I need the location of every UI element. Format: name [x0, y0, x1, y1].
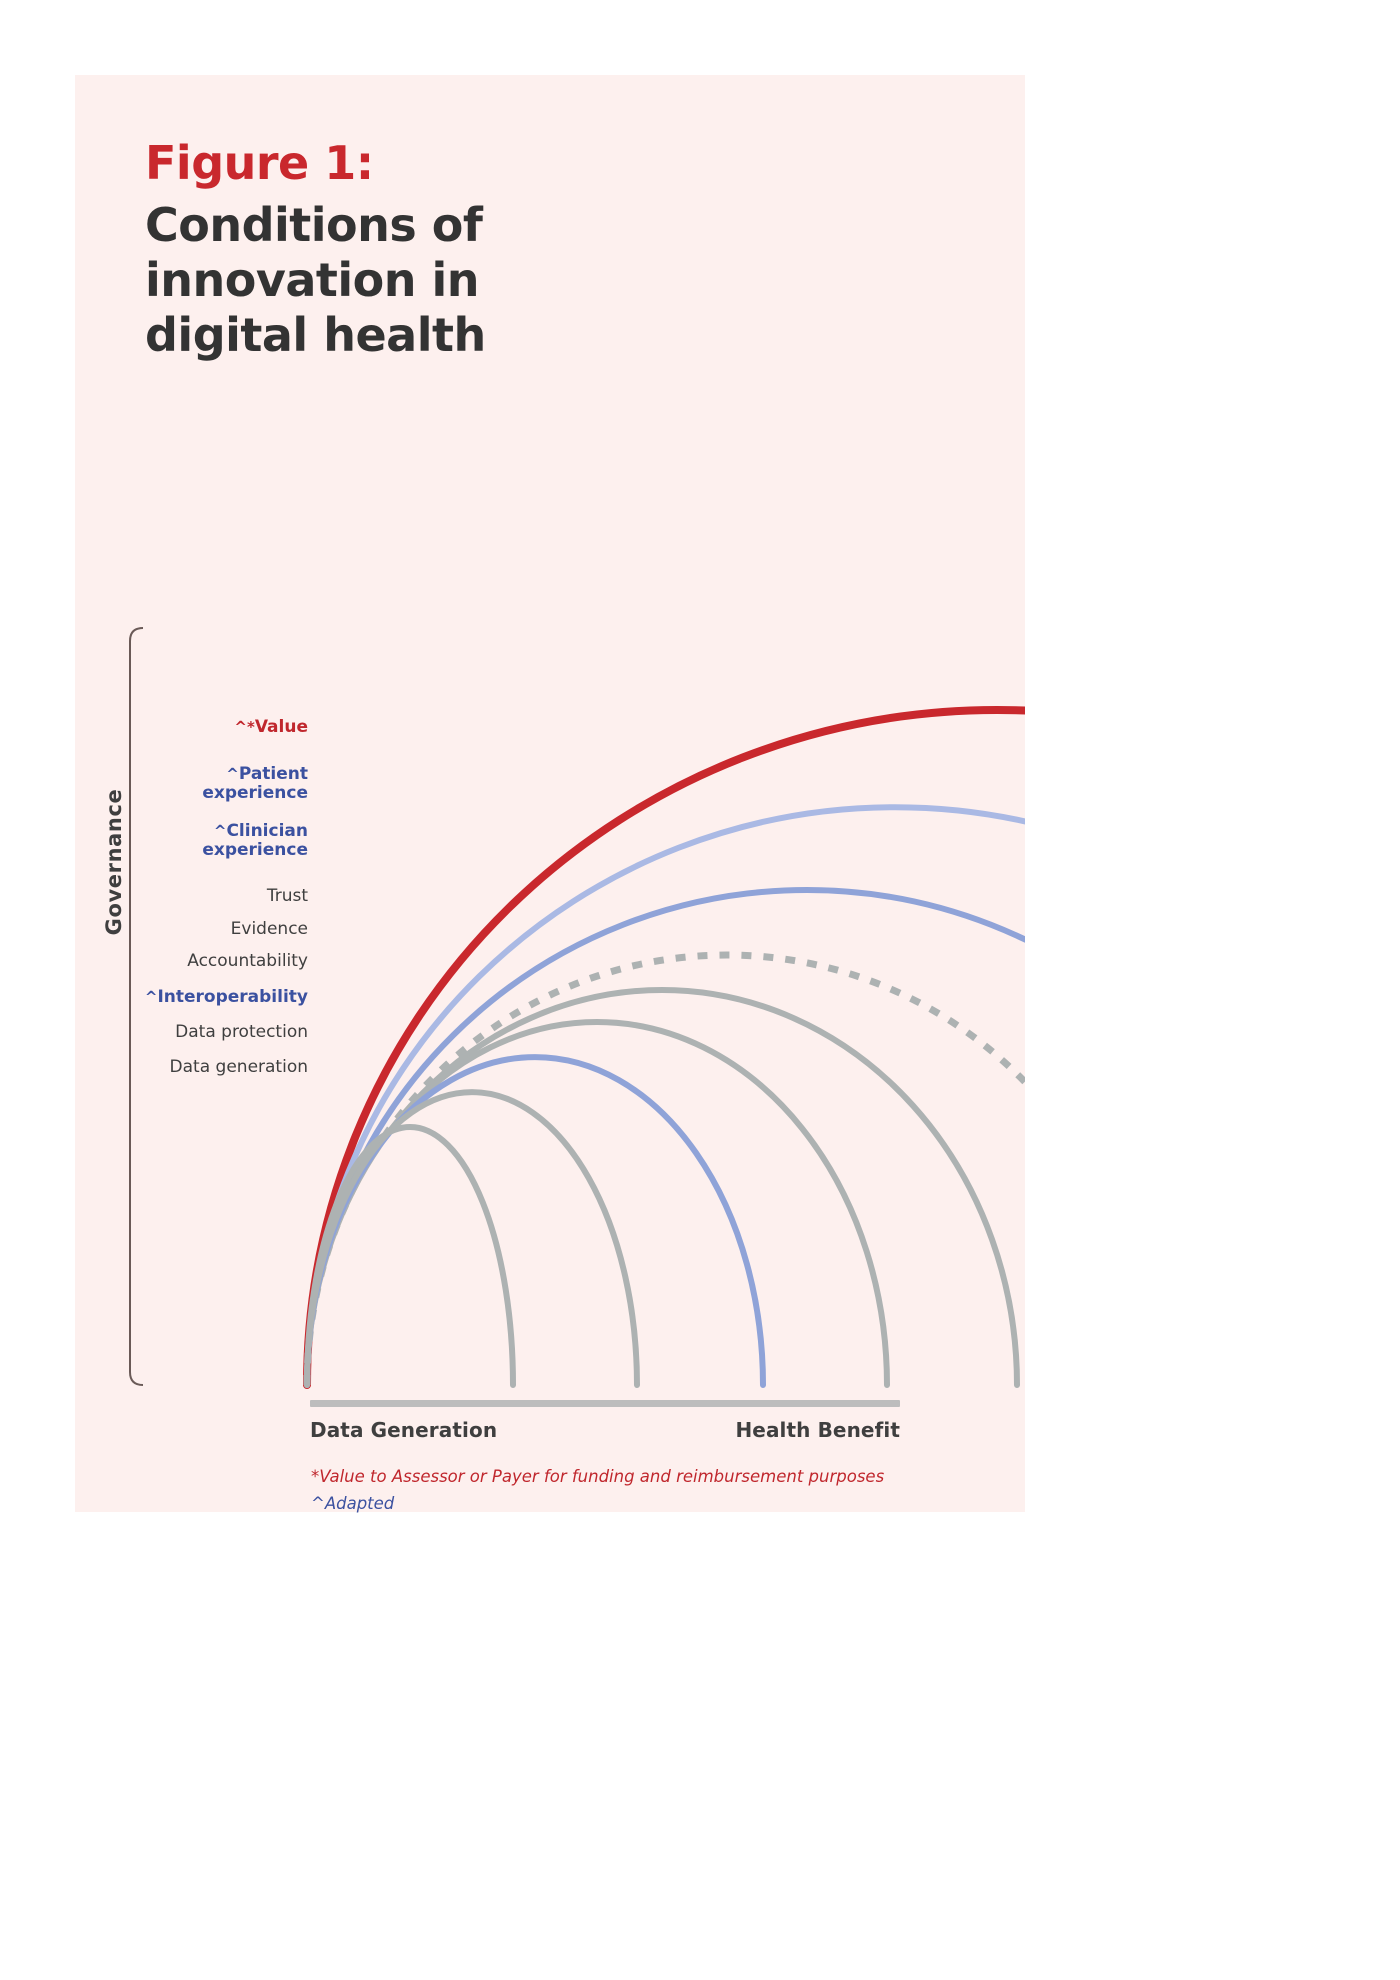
row-label-text: ^Patient [202, 765, 308, 784]
page-title: Conditions of innovation in digital heal… [145, 198, 585, 364]
figure-number-label: Figure 1: [145, 140, 705, 186]
row-label-data-protection: Data protection [175, 1023, 308, 1042]
row-label-text: ^*Value [234, 718, 308, 737]
x-axis-label-right: Health Benefit [735, 1418, 900, 1442]
footnote-2: ^Adapted [311, 1490, 951, 1517]
row-label-interoperability: ^Interoperability [145, 988, 308, 1007]
row-label-text: ^Interoperability [145, 988, 308, 1007]
row-label-accountability: Accountability [187, 952, 308, 971]
governance-bracket [130, 628, 143, 1385]
row-label-text: Data protection [175, 1023, 308, 1042]
row-label-value: ^*Value [234, 718, 308, 737]
row-label-evidence: Evidence [231, 920, 308, 939]
row-label-marker: ^ [145, 988, 158, 1006]
row-label-text: Trust [267, 887, 308, 906]
arc-layer [307, 710, 1025, 1385]
x-axis-tick-labels: Data Generation Health Benefit [310, 1418, 900, 1442]
arc-accountability [307, 1022, 887, 1385]
row-label-trust: Trust [267, 887, 308, 906]
row-label-text: Accountability [187, 952, 308, 971]
row-label-marker: ^ [214, 822, 227, 840]
arc-data-generation [307, 1127, 513, 1385]
row-label-text-second-line: experience [202, 784, 308, 803]
x-axis-label-left: Data Generation [310, 1418, 497, 1442]
row-label-data-generation: Data generation [170, 1058, 308, 1077]
row-label-text: ^Clinician [202, 822, 308, 841]
figure-page: Figure 1: Conditions of innovation in di… [0, 0, 1400, 1980]
row-label-marker: ^* [234, 718, 254, 736]
row-label-marker: ^ [226, 765, 239, 783]
arc-interoperability [307, 1057, 763, 1385]
arc-row-labels: ^*Value^Patientexperience^Clinicianexper… [150, 600, 308, 1400]
x-axis-bar [310, 1400, 900, 1407]
row-label-text: Evidence [231, 920, 308, 939]
row-label-text-second-line: experience [202, 841, 308, 860]
row-label-clinician: ^Clinicianexperience [202, 822, 308, 860]
footnote-1: *Value to Assessor or Payer for funding … [311, 1463, 951, 1490]
row-label-patient: ^Patientexperience [202, 765, 308, 803]
title-block: Figure 1: Conditions of innovation in di… [145, 140, 705, 364]
x-axis: Data Generation Health Benefit [310, 1400, 900, 1442]
arc-clinician-experience [307, 890, 1025, 1385]
footnote-list: *Value to Assessor or Payer for funding … [311, 1463, 951, 1517]
row-label-text: Data generation [170, 1058, 308, 1077]
